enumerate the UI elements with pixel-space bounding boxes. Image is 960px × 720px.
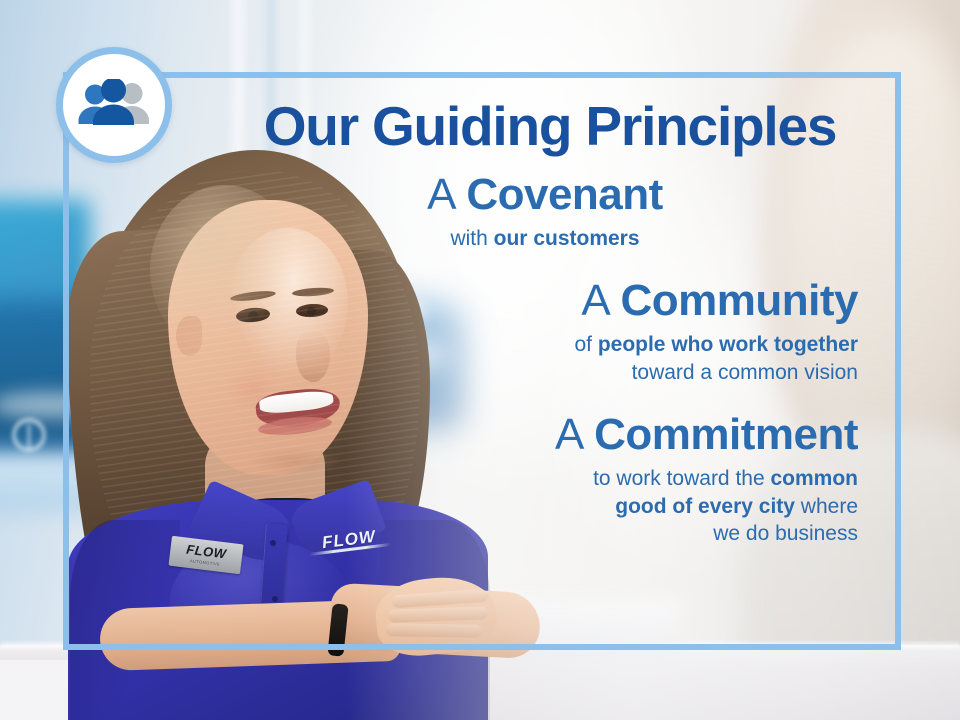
text-content: Our Guiding Principles A Covenant with o… <box>180 72 880 650</box>
principle-article: A <box>555 410 582 459</box>
subtext-plain: to work toward the <box>593 467 770 490</box>
principle-article: A <box>581 276 608 325</box>
principle-subtext: with our customers <box>210 225 880 253</box>
subtext-plain: we do business <box>713 522 858 545</box>
principle-subtext: to work toward the common good of every … <box>180 465 858 548</box>
principle-keyword: Community <box>621 276 859 325</box>
principle-article: A <box>427 170 454 219</box>
people-group-icon <box>76 79 152 131</box>
subtext-bold: our customers <box>494 227 640 250</box>
subtext-bold: good of every city <box>615 495 795 518</box>
subtext-plain: where <box>795 495 858 518</box>
principle-heading: A Commitment <box>180 412 858 459</box>
subtext-plain: toward a common vision <box>632 361 858 384</box>
principle-keyword: Commitment <box>594 410 858 459</box>
subtext-plain: with <box>450 227 493 250</box>
subtext-bold: people who work together <box>598 333 858 356</box>
principle-community: A Community of people who work together … <box>180 278 880 386</box>
principle-keyword: Covenant <box>466 170 662 219</box>
principle-heading: A Covenant <box>210 172 880 219</box>
principle-commitment: A Commitment to work toward the common g… <box>180 412 880 548</box>
principle-subtext: of people who work together toward a com… <box>180 331 858 386</box>
subtext-plain: of <box>574 333 597 356</box>
principle-covenant: A Covenant with our customers <box>180 172 880 252</box>
subtext-bold: common <box>770 467 858 490</box>
principle-heading: A Community <box>180 278 858 325</box>
guiding-principles-graphic: FLOW AUTOMOTIVE FLOW <box>0 0 960 720</box>
people-group-icon-badge <box>56 47 172 163</box>
page-title: Our Guiding Principles <box>180 72 880 154</box>
